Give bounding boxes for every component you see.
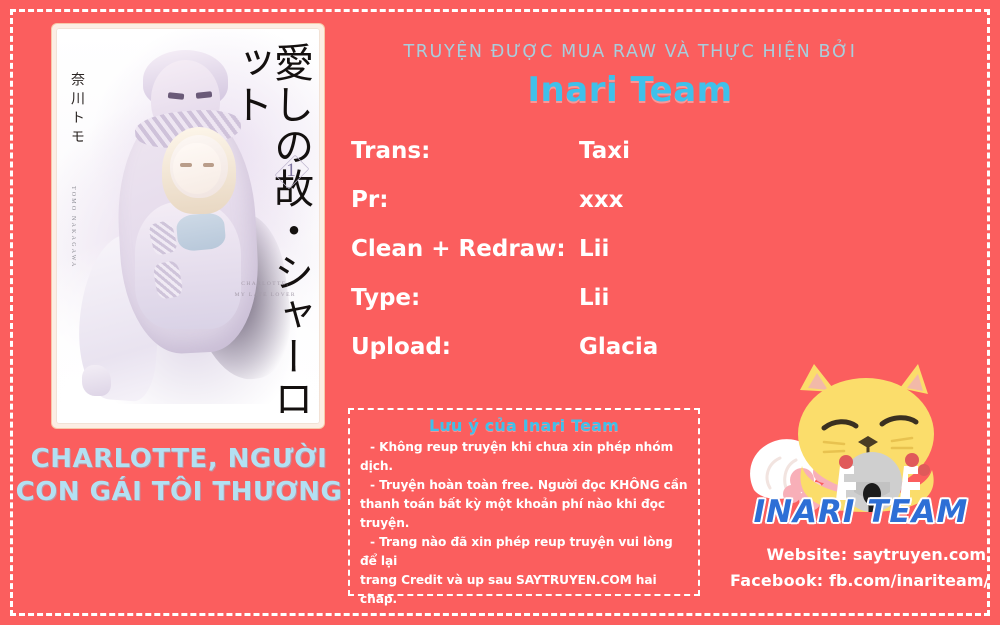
cover-volume-badge: 1 xyxy=(274,142,308,200)
credit-row: Pr: xxx xyxy=(351,187,751,236)
manga-cover-image: 愛しの故・シャーロット 奈川トモ TOMO NAKAGAWA 1 CHARLOT… xyxy=(52,24,324,428)
team-logo-area: INARI TEAM Website: saytruyen.com Facebo… xyxy=(730,362,992,614)
cover-author-name-jp: 奈川トモ xyxy=(67,72,87,148)
team-logo-text: INARI TEAM xyxy=(730,494,992,530)
credit-row: Clean + Redraw: Lii xyxy=(351,236,751,285)
facebook-value[interactable]: fb.com/inariteam/ xyxy=(829,571,989,590)
website-line: Website: saytruyen.com xyxy=(730,542,986,568)
volume-number: 1 xyxy=(274,142,308,200)
website-label: Website: xyxy=(766,545,847,564)
header-subtitle: TRUYỆN ĐƯỢC MUA RAW VÀ THỰC HIỆN BỞI xyxy=(340,42,920,62)
contact-info: Website: saytruyen.com Facebook: fb.com/… xyxy=(730,542,992,594)
credit-person-value: Lii xyxy=(579,285,609,311)
credits-page: 愛しの故・シャーロット 奈川トモ TOMO NAKAGAWA 1 CHARLOT… xyxy=(0,0,1000,625)
fox-mascot-icon xyxy=(740,362,982,512)
note-line: thanh toán bất kỳ một khoản phí nào khi … xyxy=(360,495,688,514)
credit-role-label: Upload: xyxy=(351,334,579,360)
credit-person-value: Lii xyxy=(579,236,609,262)
credit-person-value: xxx xyxy=(579,187,624,213)
credit-row: Upload: Glacia xyxy=(351,334,751,383)
credit-role-label: Clean + Redraw: xyxy=(351,236,579,262)
note-line: - Không reup truyện khi chưa xin phép nh… xyxy=(360,438,688,476)
note-line: trang Credit và up sau SAYTRUYEN.COM hai… xyxy=(360,571,688,609)
cover-author-name-romaji: TOMO NAKAGAWA xyxy=(70,186,76,269)
cover-artwork: 愛しの故・シャーロット 奈川トモ TOMO NAKAGAWA 1 CHARLOT… xyxy=(56,28,320,424)
cover-romaji-line-1: CHARLOTTE, xyxy=(235,279,296,289)
note-line: - Truyện hoàn toàn free. Người đọc KHÔNG… xyxy=(360,476,688,495)
note-line: - Trang nào đã xin phép reup truyện vui … xyxy=(360,533,688,571)
cover-romaji-line-2: MY LATE LOVER xyxy=(235,290,296,300)
credit-role-label: Trans: xyxy=(351,138,579,164)
cover-art-girl-eye-left xyxy=(180,163,192,167)
credits-list: Trans: Taxi Pr: xxx Clean + Redraw: Lii … xyxy=(351,138,751,383)
note-line: truyện. xyxy=(360,514,688,533)
facebook-line: Facebook: fb.com/inariteam/ xyxy=(730,568,986,594)
notes-title: Lưu ý của Inari Team xyxy=(360,416,688,435)
credit-role-label: Pr: xyxy=(351,187,579,213)
header-team-name: Inari Team xyxy=(340,70,920,110)
series-title-line-2: CON GÁI TÔI THƯƠNG xyxy=(14,476,344,509)
cover-art-skirt xyxy=(176,212,226,252)
team-logo-label: INARI TEAM xyxy=(754,494,969,530)
series-title: CHARLOTTE, NGƯỜI CON GÁI TÔI THƯƠNG xyxy=(14,443,344,510)
notes-box: Lưu ý của Inari Team - Không reup truyện… xyxy=(348,408,700,596)
website-value[interactable]: saytruyen.com xyxy=(853,545,986,564)
credit-row: Type: Lii xyxy=(351,285,751,334)
cover-art-girl-eye-right xyxy=(203,163,215,167)
series-title-line-1: CHARLOTTE, NGƯỜI xyxy=(14,443,344,476)
credit-person-value: Glacia xyxy=(579,334,658,360)
credit-row: Trans: Taxi xyxy=(351,138,751,187)
facebook-label: Facebook: xyxy=(730,571,823,590)
cover-japanese-title: 愛しの故・シャーロット xyxy=(252,42,310,424)
credit-person-value: Taxi xyxy=(579,138,630,164)
cover-romaji-subtitle: CHARLOTTE, MY LATE LOVER xyxy=(235,279,296,300)
credit-role-label: Type: xyxy=(351,285,579,311)
cover-art-shoe xyxy=(82,365,111,397)
